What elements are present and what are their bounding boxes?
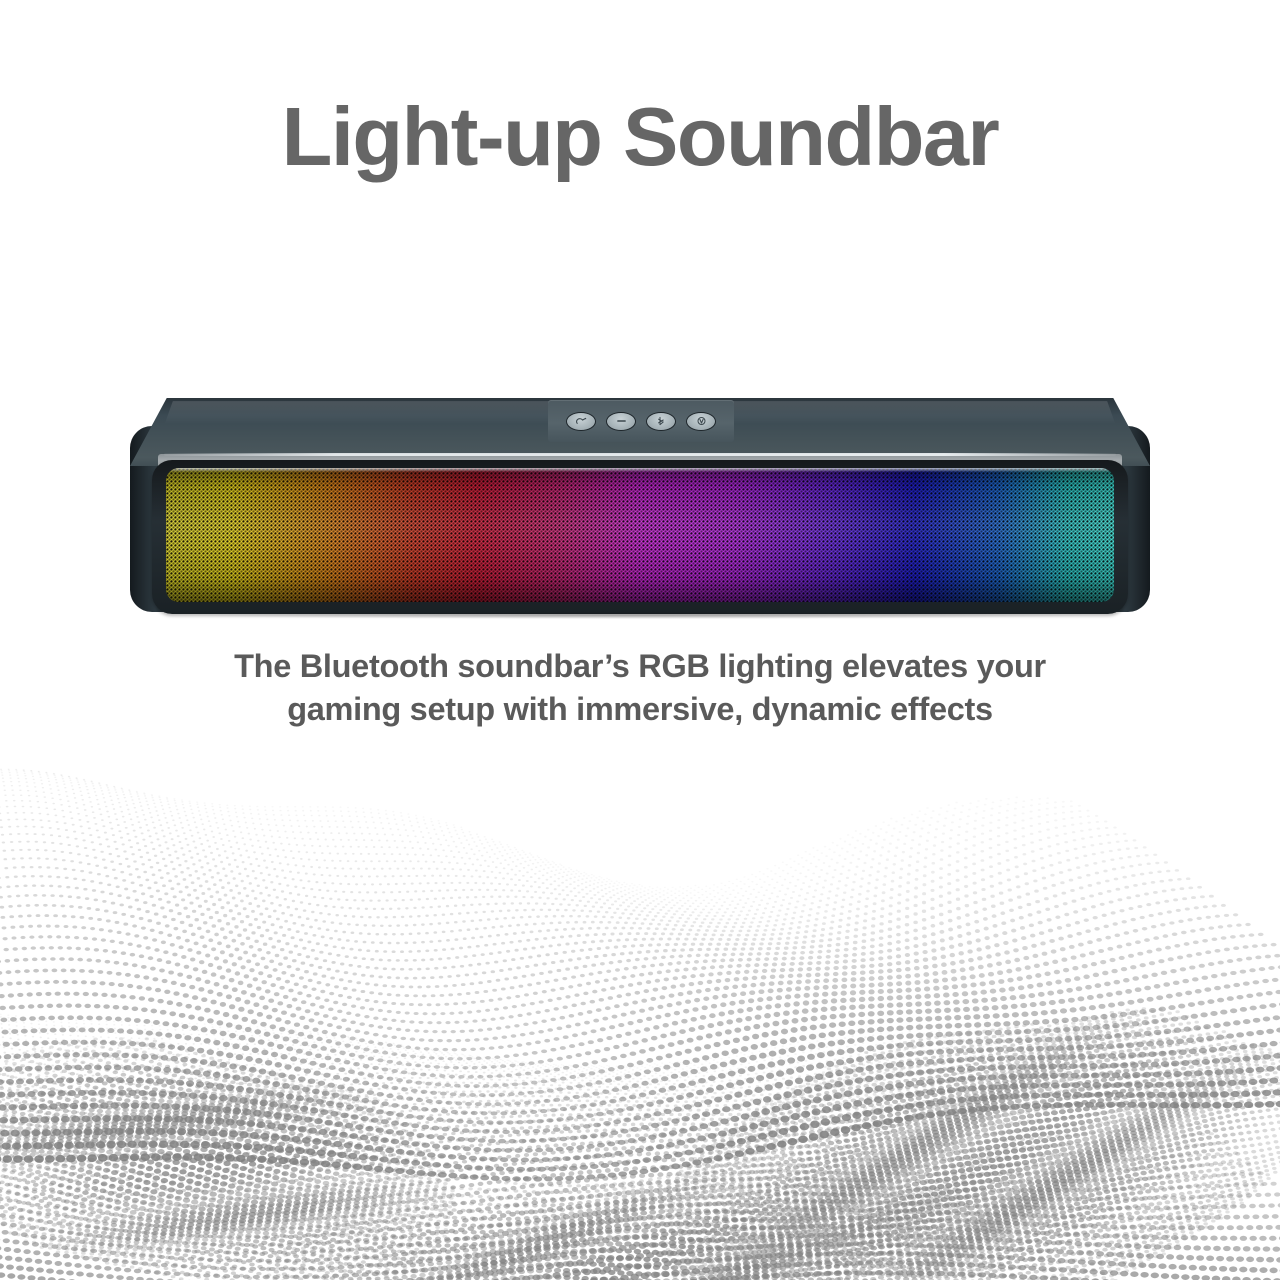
control-panel [548,400,734,442]
soundbar-product-image [130,398,1150,616]
grille-top-edge [166,468,1114,472]
power-icon[interactable] [566,412,596,431]
grille-mesh-texture-2 [166,468,1114,602]
product-drop-shadow [190,612,1090,619]
soundbar-rgb-grille [166,468,1114,602]
caption-line-1: The Bluetooth soundbar’s RGB lighting el… [90,645,1190,688]
wave-dot-grid [0,769,1280,1280]
bluetooth-icon[interactable] [646,412,676,431]
product-banner: Light-up Soundbar [0,0,1280,1280]
page-title: Light-up Soundbar [0,95,1280,178]
play-pause-icon[interactable] [686,412,716,431]
soundbar-band-highlight [164,453,1116,456]
mode-minus-icon[interactable] [606,412,636,431]
soundbar-grille-bezel [152,460,1128,614]
halftone-wave-decoration [0,700,1280,1280]
